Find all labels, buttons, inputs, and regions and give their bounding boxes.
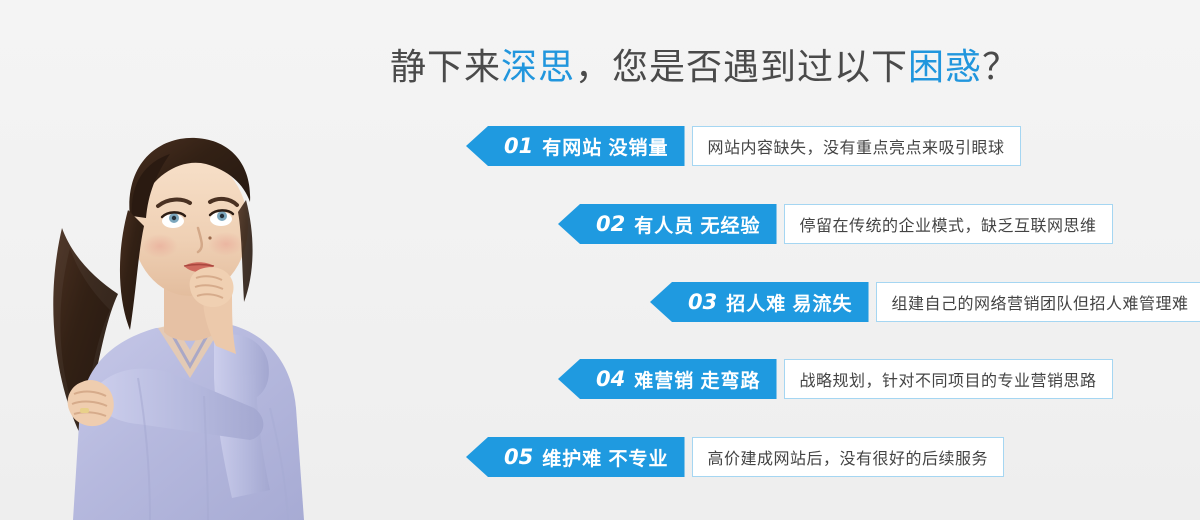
pain-point-title: 招人难 易流失 (726, 289, 852, 316)
headline-part-1: 静下来 (390, 46, 501, 87)
pain-point-title: 维护难 不专业 (542, 444, 668, 471)
headline-accent-2: 困惑 (908, 46, 982, 87)
pain-point-tag[interactable]: 02 有人员 无经验 (558, 204, 777, 244)
pain-point-number: 03 (688, 290, 717, 314)
headline-part-3: ？ (982, 46, 1019, 87)
pain-point-row[interactable]: 05 维护难 不专业 高价建成网站后，没有很好的后续服务 (466, 437, 1004, 477)
pain-point-row[interactable]: 04 难营销 走弯路 战略规划，针对不同项目的专业营销思路 (558, 359, 1113, 399)
pain-point-number: 02 (596, 212, 625, 236)
pain-point-tag[interactable]: 03 招人难 易流失 (650, 282, 869, 322)
promo-banner: 静下来深思，您是否遇到过以下困惑？ 01 有网站 没销量 网站内容缺失，没有重点… (0, 0, 1200, 520)
pain-point-description: 组建自己的网络营销团队但招人难管理难 (876, 282, 1200, 322)
pain-point-tag[interactable]: 05 维护难 不专业 (466, 437, 685, 477)
pain-point-description: 网站内容缺失，没有重点亮点来吸引眼球 (692, 126, 1021, 166)
thinking-woman-figure (18, 78, 348, 520)
pain-point-tag[interactable]: 01 有网站 没销量 (466, 126, 685, 166)
page-title: 静下来深思，您是否遇到过以下困惑？ (390, 38, 1090, 96)
pain-point-description: 战略规划，针对不同项目的专业营销思路 (784, 359, 1113, 399)
headline-part-2: ，您是否遇到过以下 (575, 46, 908, 87)
pain-point-title: 难营销 走弯路 (634, 366, 760, 393)
pain-point-title: 有网站 没销量 (542, 133, 668, 160)
pain-point-row[interactable]: 02 有人员 无经验 停留在传统的企业模式，缺乏互联网思维 (558, 204, 1113, 244)
pain-point-description: 高价建成网站后，没有很好的后续服务 (692, 437, 1005, 477)
pain-point-number: 05 (504, 445, 533, 469)
pain-point-tag[interactable]: 04 难营销 走弯路 (558, 359, 777, 399)
pain-point-row[interactable]: 03 招人难 易流失 组建自己的网络营销团队但招人难管理难 (650, 282, 1200, 322)
pain-point-description: 停留在传统的企业模式，缺乏互联网思维 (784, 204, 1113, 244)
pain-point-title: 有人员 无经验 (634, 211, 760, 238)
pain-point-number: 01 (504, 134, 533, 158)
pain-point-number: 04 (596, 367, 625, 391)
pain-point-row[interactable]: 01 有网站 没销量 网站内容缺失，没有重点亮点来吸引眼球 (466, 126, 1021, 166)
headline-accent-1: 深思 (501, 46, 575, 87)
